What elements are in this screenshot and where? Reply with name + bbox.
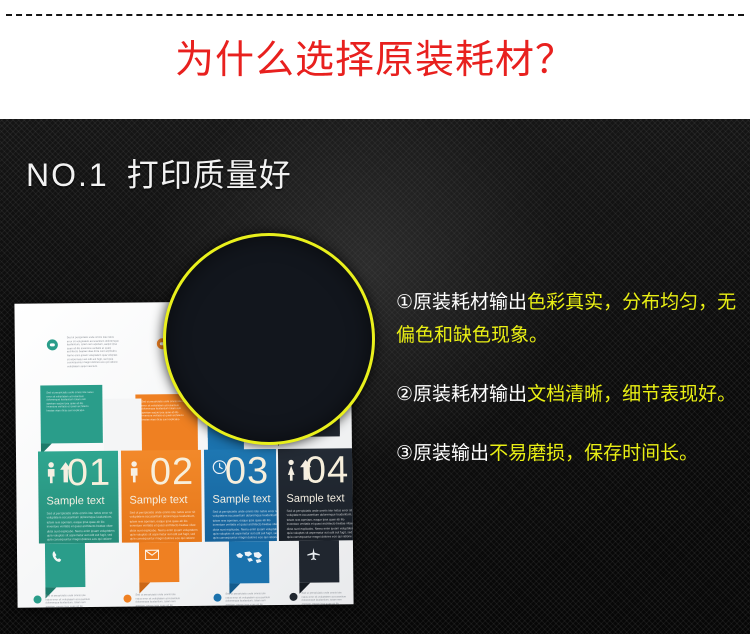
- person-female-icon: [286, 459, 296, 481]
- ribbon-teal-upper: Sed ut perspiciatis unde omnis iste natu…: [40, 385, 103, 444]
- panel-03-body: Sed ut perspiciatis unde omnis iste natu…: [213, 509, 277, 542]
- bullet-marker-1: ①: [396, 292, 413, 313]
- bullet-white-1: 原装耗材输出: [413, 292, 527, 313]
- panel-01: 01 Sample text Sed ut perspiciatis unde …: [38, 451, 119, 544]
- footer-note-1: Sed ut perspiciatis unde omnis iste natu…: [33, 594, 91, 595]
- panel-01-number: 01: [67, 453, 112, 493]
- section-heading: NO.1打印质量好: [26, 150, 292, 196]
- panel-02-body: Sed ut perspiciatis unde omnis iste natu…: [130, 510, 200, 543]
- footer-note-text: Sed ut perspiciatis unde omnis iste natu…: [135, 593, 181, 608]
- bullet-white-2: 原装耗材输出: [413, 384, 527, 405]
- micro-paragraph: Sed ut perspiciatis unde omnis iste natu…: [46, 391, 94, 413]
- phone-icon: [51, 550, 64, 563]
- footer-tab-map: [229, 541, 269, 583]
- section-number: NO.1: [26, 157, 109, 193]
- panel-02: 02 Sample text Sed ut perspiciatis unde …: [121, 450, 202, 543]
- page-title: 为什么选择原装耗材？: [0, 36, 750, 86]
- bullet-yellow-3: 不易磨损，保存时间长。: [489, 443, 698, 464]
- panel-04-number: 04: [305, 450, 350, 490]
- footer-note-3: Sed ut perspiciatis unde omnis iste natu…: [213, 592, 271, 593]
- panel-02-label: Sample text: [129, 494, 187, 507]
- world-map-icon: [234, 549, 264, 565]
- person-icon: [129, 460, 139, 482]
- footer-note-4: Sed ut perspiciatis unde omnis iste natu…: [289, 591, 347, 592]
- bullet-marker-3: ③: [396, 443, 413, 464]
- footer-tab-phone: [45, 543, 85, 587]
- bullet-dot-icon: [289, 593, 297, 601]
- panel-02-icons: [129, 460, 139, 482]
- panel-01-body: Sed ut perspiciatis unde omnis iste natu…: [47, 511, 117, 544]
- panel-03-label: Sample text: [212, 493, 270, 506]
- list-item: ③原装输出不易磨损，保存时间长。: [396, 437, 740, 470]
- footer-tab-email: [139, 542, 179, 582]
- bullet-yellow-2: 文档清晰，细节表现好。: [527, 384, 736, 405]
- list-item: ②原装耗材输出文档清晰，细节表现好。: [396, 378, 740, 411]
- bullet-dot-icon: [123, 595, 131, 603]
- airplane-icon: [306, 547, 321, 562]
- micro-paragraph: Sed ut perspiciatis unde omnis iste natu…: [67, 336, 119, 369]
- magnified-content: 03 04 Sample text Sample text Sed ut per…: [163, 233, 375, 445]
- speech-bubble-icon-teal: [47, 339, 58, 350]
- panel-04-label: Sample text: [286, 492, 344, 505]
- panel-04-body: Sed ut perspiciatis unde omnis iste natu…: [287, 508, 354, 541]
- list-item: ①原装耗材输出色彩真实，分布均匀，无偏色和缺色现象。: [396, 286, 740, 352]
- panel-02-number: 02: [150, 452, 195, 492]
- panel-03-number: 03: [225, 451, 270, 491]
- bullet-dot-icon: [33, 596, 41, 604]
- magnifier-lens: 03 04 Sample text Sample text Sed ut per…: [163, 233, 375, 445]
- bullet-marker-2: ②: [396, 384, 413, 405]
- person-icon: [46, 461, 56, 483]
- bullet-dot-icon: [213, 594, 221, 602]
- panel-04: 04 Sample text Sed ut perspiciatis unde …: [278, 448, 354, 541]
- panel-01-label: Sample text: [46, 495, 104, 508]
- promo-page: 为什么选择原装耗材？ NO.1打印质量好 ①原装耗材输出色彩真实，分布均匀，无偏…: [0, 0, 750, 634]
- envelope-icon: [145, 549, 159, 560]
- top-dashed-divider: [6, 14, 744, 16]
- section-title: 打印质量好: [127, 157, 292, 193]
- panel-03: 03 Sample text Sed ut perspiciatis unde …: [204, 449, 277, 542]
- benefit-list: ①原装耗材输出色彩真实，分布均匀，无偏色和缺色现象。 ②原装耗材输出文档清晰，细…: [396, 286, 740, 496]
- footer-note-2: Sed ut perspiciatis unde omnis iste natu…: [123, 593, 181, 594]
- footer-note-text: Sed ut perspiciatis unde omnis iste natu…: [45, 594, 91, 608]
- bullet-white-3: 原装输出: [413, 443, 489, 464]
- footer-tab-plane: [299, 540, 339, 582]
- header-band: 为什么选择原装耗材？: [0, 0, 750, 119]
